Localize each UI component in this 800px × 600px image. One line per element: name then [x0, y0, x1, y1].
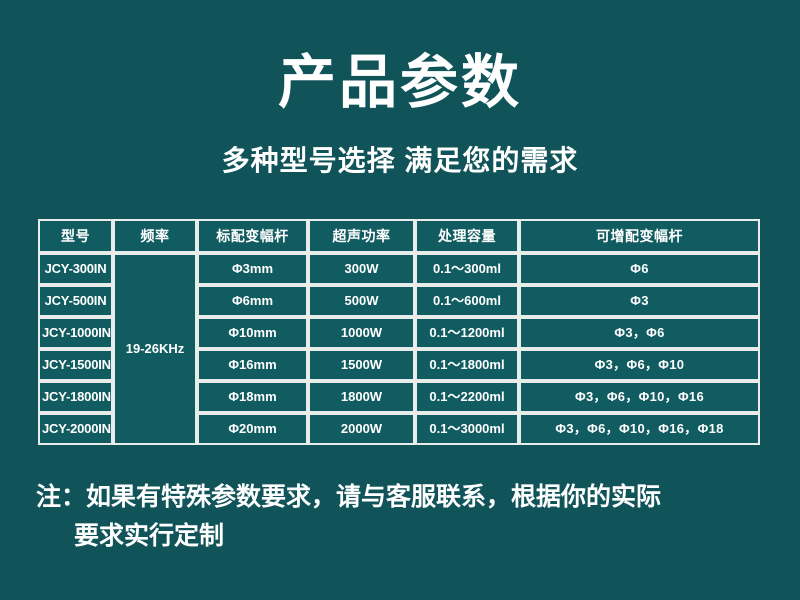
product-spec-page: 产品参数 多种型号选择 满足您的需求 型号 频率 标配变幅杆 超声功率 处理容量… [0, 0, 800, 600]
cell-processing-capacity: 0.1～2200ml [415, 381, 519, 413]
cell-standard-horn: Φ18mm [197, 381, 308, 413]
spec-table-container: 型号 频率 标配变幅杆 超声功率 处理容量 可增配变幅杆 JCY-300IN 1… [38, 219, 760, 445]
cell-optional-horn: Φ3，Φ6，Φ10，Φ16 [519, 381, 760, 413]
column-header-processing-capacity: 处理容量 [415, 219, 519, 253]
table-header: 型号 频率 标配变幅杆 超声功率 处理容量 可增配变幅杆 [38, 219, 760, 253]
cell-processing-capacity: 0.1～3000ml [415, 413, 519, 445]
table-body: JCY-300IN 19-26KHz Φ3mm 300W 0.1～300ml Φ… [38, 253, 760, 445]
cell-processing-capacity: 0.1～300ml [415, 253, 519, 285]
cell-processing-capacity: 0.1～600ml [415, 285, 519, 317]
cell-standard-horn: Φ10mm [197, 317, 308, 349]
footer-note-line-1: 注：如果有特殊参数要求，请与客服联系，根据你的实际 [36, 483, 661, 511]
cell-optional-horn: Φ3，Φ6，Φ10 [519, 349, 760, 381]
cell-optional-horn: Φ3，Φ6 [519, 317, 760, 349]
column-header-standard-horn: 标配变幅杆 [197, 219, 308, 253]
cell-optional-horn: Φ3 [519, 285, 760, 317]
cell-model: JCY-1500IN [38, 349, 113, 381]
cell-standard-horn: Φ16mm [197, 349, 308, 381]
cell-ultrasonic-power: 1500W [308, 349, 415, 381]
cell-model: JCY-500IN [38, 285, 113, 317]
cell-optional-horn: Φ6 [519, 253, 760, 285]
cell-standard-horn: Φ20mm [197, 413, 308, 445]
column-header-model: 型号 [38, 219, 113, 253]
table-row: JCY-300IN 19-26KHz Φ3mm 300W 0.1～300ml Φ… [38, 253, 760, 285]
product-spec-table: 型号 频率 标配变幅杆 超声功率 处理容量 可增配变幅杆 JCY-300IN 1… [38, 219, 760, 445]
cell-ultrasonic-power: 2000W [308, 413, 415, 445]
cell-ultrasonic-power: 1800W [308, 381, 415, 413]
column-header-optional-horn: 可增配变幅杆 [519, 219, 760, 253]
cell-frequency: 19-26KHz [113, 253, 197, 445]
cell-standard-horn: Φ6mm [197, 285, 308, 317]
footer-note: 注：如果有特殊参数要求，请与客服联系，根据你的实际 要求实行定制 [36, 478, 776, 556]
cell-ultrasonic-power: 300W [308, 253, 415, 285]
cell-model: JCY-1000IN [38, 317, 113, 349]
cell-standard-horn: Φ3mm [197, 253, 308, 285]
cell-ultrasonic-power: 1000W [308, 317, 415, 349]
cell-processing-capacity: 0.1～1800ml [415, 349, 519, 381]
page-subtitle: 多种型号选择 满足您的需求 [0, 144, 800, 178]
page-title: 产品参数 [0, 52, 800, 114]
cell-model: JCY-1800IN [38, 381, 113, 413]
cell-model: JCY-300IN [38, 253, 113, 285]
cell-ultrasonic-power: 500W [308, 285, 415, 317]
footer-note-line-2: 要求实行定制 [36, 517, 776, 556]
cell-optional-horn: Φ3，Φ6，Φ10，Φ16，Φ18 [519, 413, 760, 445]
column-header-frequency: 频率 [113, 219, 197, 253]
cell-processing-capacity: 0.1～1200ml [415, 317, 519, 349]
column-header-ultrasonic-power: 超声功率 [308, 219, 415, 253]
cell-model: JCY-2000IN [38, 413, 113, 445]
table-header-row: 型号 频率 标配变幅杆 超声功率 处理容量 可增配变幅杆 [38, 219, 760, 253]
